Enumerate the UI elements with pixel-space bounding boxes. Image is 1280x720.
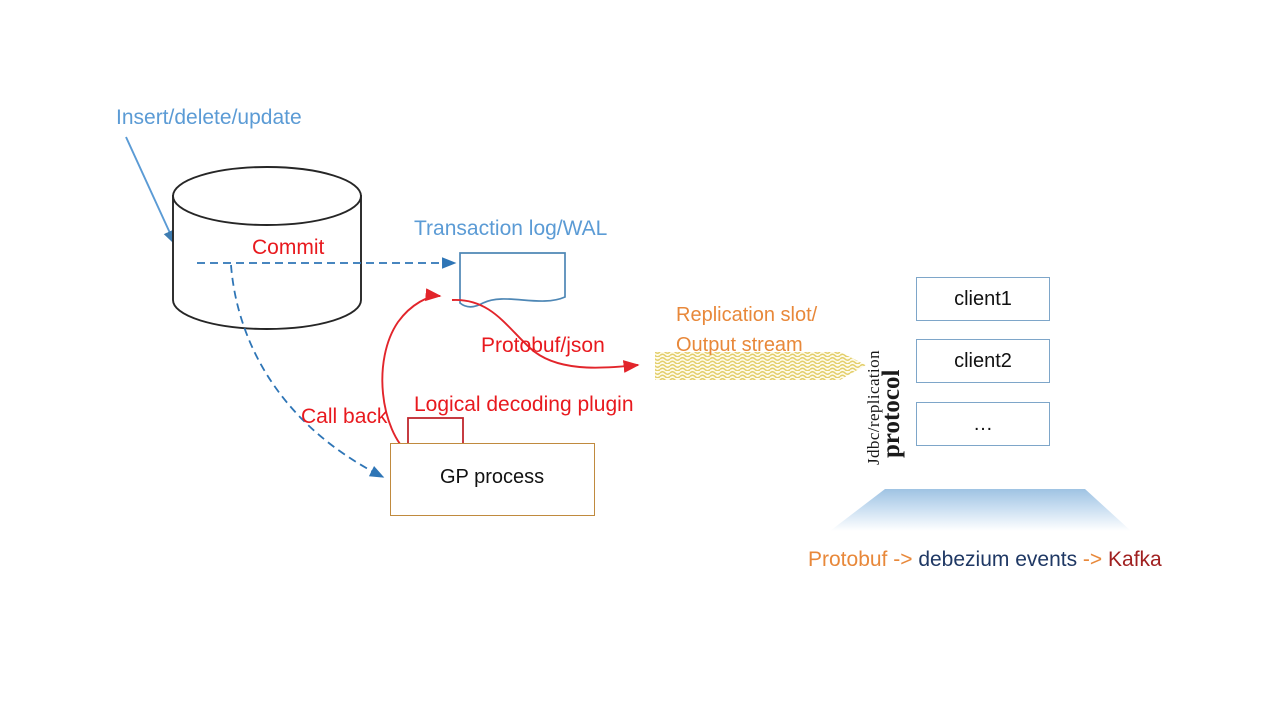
replication-slot-label-group: Replication slot/ Output stream — [676, 300, 817, 360]
client-box-3[interactable]: … — [916, 402, 1050, 446]
transaction-log-wal-label: Transaction log/WAL — [414, 217, 607, 241]
bottom-flow-arrow-1: -> — [887, 548, 918, 571]
bottom-flow-debezium-events: debezium events — [918, 548, 1077, 571]
insert-delete-update-label: Insert/delete/update — [116, 106, 302, 130]
protocol-label: protocol — [878, 370, 906, 458]
replication-slot-line2: Output stream — [676, 330, 817, 360]
bottom-flow-text: Protobuf -> debezium events -> Kafka — [808, 548, 1162, 572]
wal-document-shape — [460, 253, 565, 307]
logical-decoding-plugin-label: Logical decoding plugin — [414, 393, 634, 417]
gp-process-label: GP process — [440, 466, 544, 489]
commit-label: Commit — [252, 236, 324, 260]
client-box-1[interactable]: client1 — [916, 277, 1050, 321]
client-box-2[interactable]: client2 — [916, 339, 1050, 383]
kafka-gradient-trapezoid — [830, 489, 1131, 531]
bottom-flow-kafka: Kafka — [1108, 548, 1162, 571]
bottom-flow-protobuf: Protobuf — [808, 548, 887, 571]
call-back-label: Call back — [301, 405, 387, 429]
diagram-canvas: Insert/delete/update Transaction log/WAL… — [0, 0, 1280, 720]
bottom-flow-arrow-2: -> — [1077, 548, 1108, 571]
insert-arrow — [126, 137, 175, 244]
replication-slot-line1: Replication slot/ — [676, 300, 817, 330]
protobuf-json-label: Protobuf/json — [481, 334, 605, 358]
